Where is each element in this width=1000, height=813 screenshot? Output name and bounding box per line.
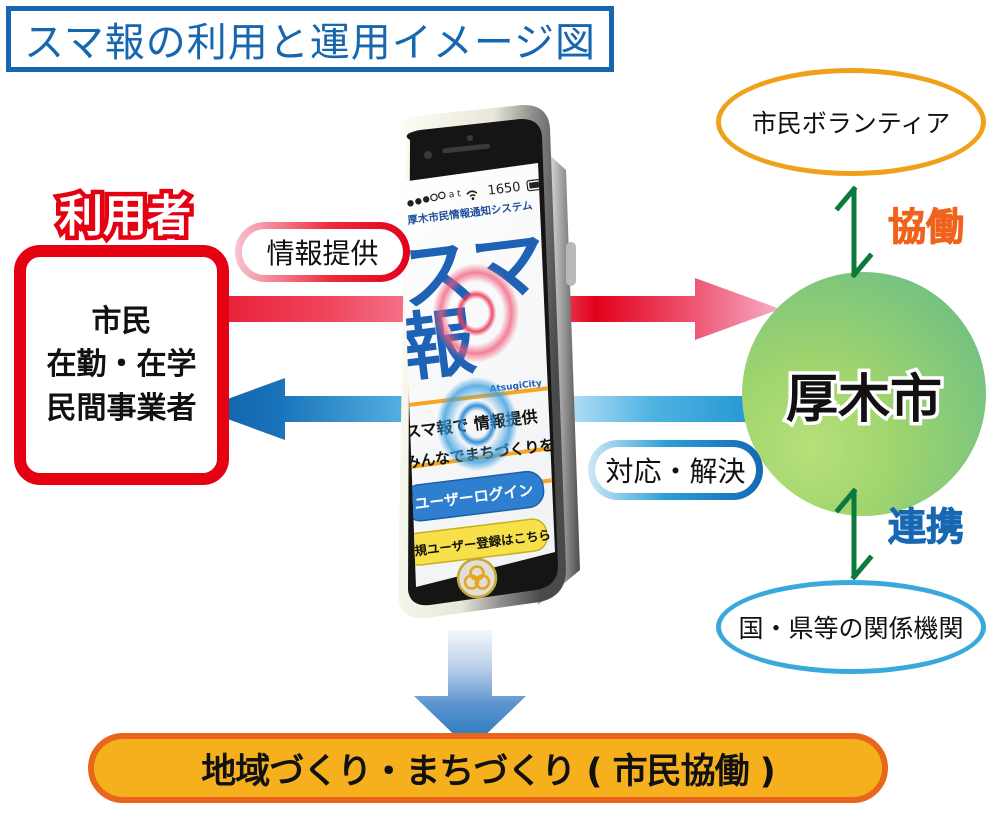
user-line-1: 市民 [92,300,152,344]
user-line-3: 民間事業者 [47,387,197,431]
flow-label-resolve-text: 対応・解決 [605,450,745,490]
relation-label-renkei: 連携 [888,496,964,551]
page-title: スマ報の利用と運用イメージ図 [24,10,596,68]
partner-node-agency-label: 国・県等の関係機関 [738,609,963,645]
flow-label-provide-information: 情報提供 [235,222,410,282]
relation-label-kyodo: 協働 [888,196,964,251]
user-line-2: 在勤・在学 [47,343,197,387]
partner-node-agency: 国・県等の関係機関 [716,580,986,674]
smartphone-illustration: a t 1650 厚木市民情報通知システム スマ 報 AtsugiCity スマ… [370,100,600,620]
user-group-box: 市民 在勤・在学 民間事業者 [14,245,229,485]
city-node-atsugi: 厚木市 [742,272,986,516]
user-group-label: 利用者 [30,182,220,242]
partner-node-volunteer: 市民ボランティア [716,68,986,176]
double-headed-arrow-icon-top [832,186,876,278]
partner-node-volunteer-label: 市民ボランティア [752,104,951,140]
flow-label-provide-text: 情報提供 [266,232,378,272]
diagram-title-box: スマ報の利用と運用イメージ図 [6,6,614,72]
flow-label-response-resolution: 対応・解決 [588,440,763,500]
double-headed-arrow-icon-bottom [832,488,876,580]
outcome-banner-label: 地域づくり・まちづくり ( 市民協働 ) [201,743,775,794]
outcome-banner: 地域づくり・まちづくり ( 市民協働 ) [88,733,888,803]
svg-text:a t: a t [448,189,462,200]
city-node-label: 厚木市 [786,357,942,432]
svg-text:報: 報 [396,298,480,392]
arrow-down-blue [410,630,530,750]
